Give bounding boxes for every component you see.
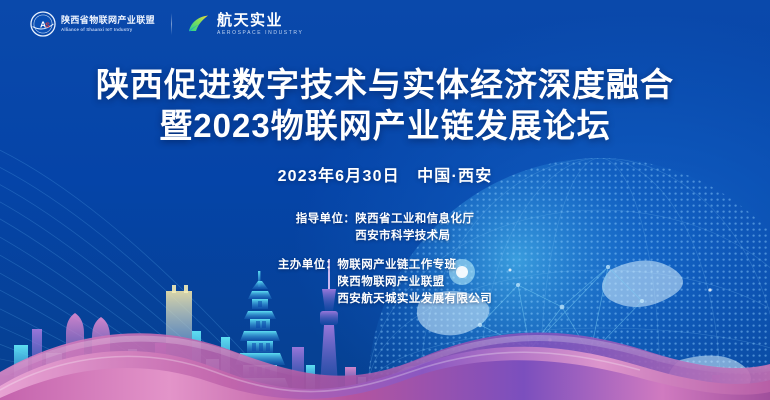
alliance-cn-name: 陕西省物联网产业联盟 xyxy=(61,15,155,26)
date-location: 2023年6月30日 中国·西安 xyxy=(0,162,770,186)
aerospace-swoosh-icon xyxy=(188,14,210,34)
title-line-2: 暨2023物联网产业链发展论坛 xyxy=(0,105,770,146)
alliance-logo: A S 陕西省物联网产业联盟 Alliance of Shaanxi IoT I… xyxy=(30,11,155,37)
aerospace-logo: 航天实业 AEROSPACE INDUSTRY xyxy=(188,12,303,37)
host-unit-item: 陕西物联网产业联盟 xyxy=(337,274,492,291)
asi-roundel-icon: A S xyxy=(30,11,56,37)
guidance-units-label: 指导单位： xyxy=(296,211,356,228)
organizer-section: 指导单位： 陕西省工业和信息化厅 西安市科学技术局 主办单位： 物联网产业链工作… xyxy=(0,211,770,308)
headline: 陕西促进数字技术与实体经济深度融合 暨2023物联网产业链发展论坛 xyxy=(0,64,770,146)
host-units-label: 主办单位： xyxy=(278,257,338,274)
guidance-units-block: 指导单位： 陕西省工业和信息化厅 西安市科学技术局 xyxy=(296,211,475,245)
host-units-values: 物联网产业链工作专班 陕西物联网产业联盟 西安航天城实业发展有限公司 xyxy=(337,257,492,308)
guidance-unit-item: 陕西省工业和信息化厅 xyxy=(355,211,474,228)
guidance-unit-item: 西安市科学技术局 xyxy=(355,228,474,245)
svg-text:S: S xyxy=(45,21,50,29)
host-unit-item: 物联网产业链工作专班 xyxy=(337,257,492,274)
aerospace-en-name: AEROSPACE INDUSTRY xyxy=(217,29,303,37)
logo-bar: A S 陕西省物联网产业联盟 Alliance of Shaanxi IoT I… xyxy=(30,11,303,37)
host-unit-item: 西安航天城实业发展有限公司 xyxy=(337,291,492,308)
aerospace-cn-name: 航天实业 xyxy=(217,12,303,29)
host-units-block: 主办单位： 物联网产业链工作专班 陕西物联网产业联盟 西安航天城实业发展有限公司 xyxy=(278,257,492,308)
title-line-1: 陕西促进数字技术与实体经济深度融合 xyxy=(0,64,770,105)
alliance-en-name: Alliance of Shaanxi IoT Industry xyxy=(61,26,155,33)
guidance-units-values: 陕西省工业和信息化厅 西安市科学技术局 xyxy=(355,211,474,245)
conference-banner: A S 陕西省物联网产业联盟 Alliance of Shaanxi IoT I… xyxy=(0,0,770,400)
logo-divider xyxy=(171,13,172,35)
